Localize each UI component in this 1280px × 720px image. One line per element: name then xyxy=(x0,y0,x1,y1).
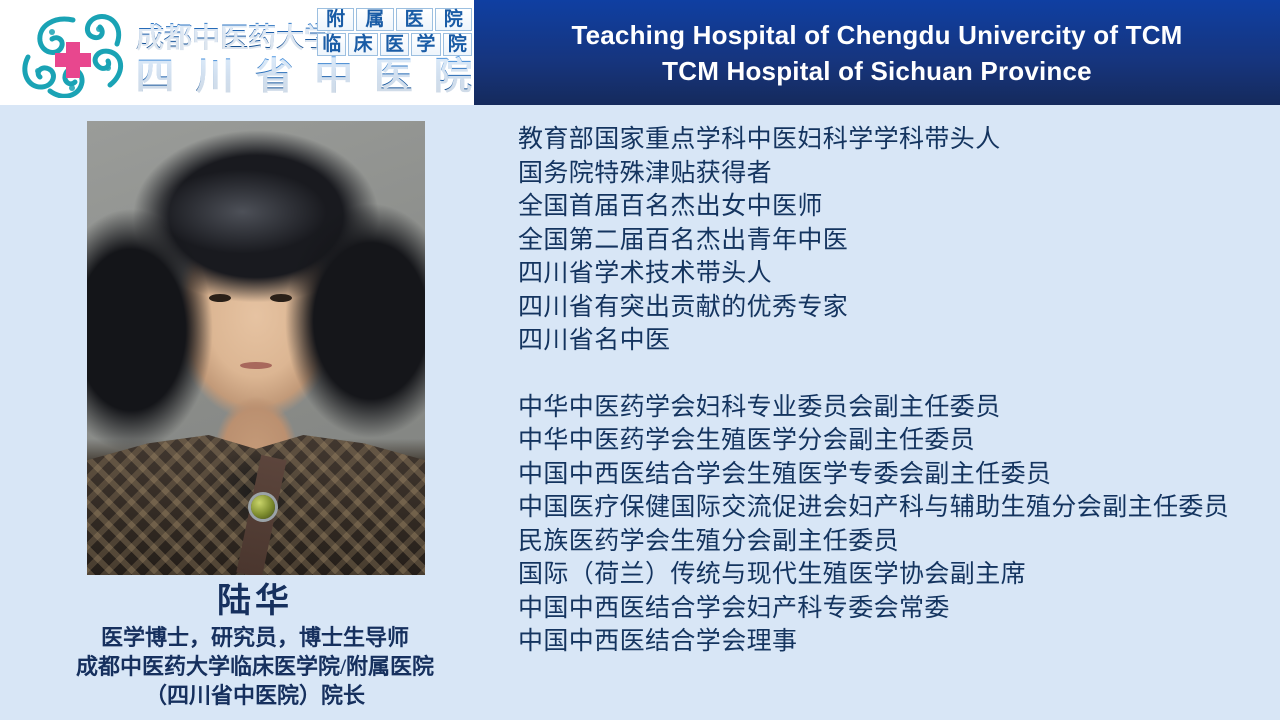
logo-hospital-char: 省 xyxy=(255,55,293,99)
credentials-group-appointments: 中华中医药学会妇科专业委员会副主任委员 中华中医药学会生殖医学分会副主任委员 中… xyxy=(518,391,1270,659)
credential-line: 中国中西医结合学会妇产科专委会常委 xyxy=(518,592,1270,626)
credential-line: 全国首届百名杰出女中医师 xyxy=(518,190,1270,224)
portrait-eye-left xyxy=(209,294,231,302)
credential-line: 四川省有突出贡献的优秀专家 xyxy=(518,291,1270,325)
hospital-logo-panel: 成都中医药大学 附 属 医 院 临 床 医 学 院 xyxy=(0,0,474,105)
logo-hospital-name: 四 川 省 中 医 院 xyxy=(136,55,472,99)
portrait-necklace-pendant xyxy=(251,495,275,519)
logo-affiliate-char: 院 xyxy=(435,8,472,31)
credential-line: 国际（荷兰）传统与现代生殖医学协会副主席 xyxy=(518,558,1270,592)
credential-line: 民族医药学会生殖分会副主任委员 xyxy=(518,525,1270,559)
slide-body: 陆华 医学博士，研究员，博士生导师 成都中医药大学临床医学院/附属医院 （四川省… xyxy=(0,105,1280,720)
logo-affiliate-char: 属 xyxy=(356,8,393,31)
credential-line: 教育部国家重点学科中医妇科学学科带头人 xyxy=(518,123,1270,157)
logo-affiliate-boxes: 附 属 医 院 临 床 医 学 院 xyxy=(317,8,472,58)
hospital-lotus-cross-logo-icon xyxy=(14,8,132,98)
banner-title-line-2: TCM Hospital of Sichuan Province xyxy=(662,54,1092,88)
logo-university-name: 成都中医药大学 xyxy=(136,16,332,56)
logo-affiliate-row-1: 附 属 医 院 xyxy=(317,8,472,31)
portrait-mouth xyxy=(240,362,272,369)
logo-affiliate-char: 学 xyxy=(411,33,440,56)
logo-hospital-char: 医 xyxy=(374,55,412,99)
credentials-spacer xyxy=(518,358,1270,391)
credential-line: 中国中西医结合学会生殖医学专委会副主任委员 xyxy=(518,458,1270,492)
credential-line: 中华中医药学会生殖医学分会副主任委员 xyxy=(518,424,1270,458)
slide-root: 成都中医药大学 附 属 医 院 临 床 医 学 院 xyxy=(0,0,1280,720)
logo-affiliate-char: 院 xyxy=(443,33,472,56)
credential-line: 全国第二届百名杰出青年中医 xyxy=(518,224,1270,258)
portrait-eye-right xyxy=(270,294,292,302)
person-title-line: （四川省中医院）院长 xyxy=(35,681,475,710)
credential-line: 中国医疗保健国际交流促进会妇产科与辅助生殖分会副主任委员 xyxy=(518,491,1270,525)
logo-affiliate-char: 附 xyxy=(317,8,354,31)
person-title-line: 成都中医药大学临床医学院/附属医院 xyxy=(35,652,475,681)
logo-hospital-char: 中 xyxy=(315,55,353,99)
credentials-group-honors: 教育部国家重点学科中医妇科学学科带头人 国务院特殊津贴获得者 全国首届百名杰出女… xyxy=(518,123,1270,358)
banner-title-line-1: Teaching Hospital of Chengdu Univercity … xyxy=(571,18,1182,52)
logo-hospital-char: 院 xyxy=(434,55,472,99)
credential-line: 国务院特殊津贴获得者 xyxy=(518,157,1270,191)
logo-affiliate-char: 医 xyxy=(380,33,409,56)
logo-hospital-char: 四 xyxy=(136,55,174,99)
slide-header: 成都中医药大学 附 属 医 院 临 床 医 学 院 xyxy=(0,0,1280,105)
logo-affiliate-char: 床 xyxy=(348,33,377,56)
credential-line: 中国中西医结合学会理事 xyxy=(518,625,1270,659)
logo-affiliate-char: 临 xyxy=(317,33,346,56)
english-title-banner: Teaching Hospital of Chengdu Univercity … xyxy=(474,0,1280,105)
portrait-photo xyxy=(87,121,425,575)
logo-wordmark: 成都中医药大学 附 属 医 院 临 床 医 学 院 xyxy=(136,5,472,101)
credential-line: 中华中医药学会妇科专业委员会副主任委员 xyxy=(518,391,1270,425)
credential-line: 四川省名中医 xyxy=(518,324,1270,358)
logo-affiliate-row-2: 临 床 医 学 院 xyxy=(317,33,472,56)
logo-affiliate-char: 医 xyxy=(396,8,433,31)
credential-line: 四川省学术技术带头人 xyxy=(518,257,1270,291)
person-title-line: 医学博士，研究员，博士生导师 xyxy=(35,623,475,652)
logo-hospital-char: 川 xyxy=(196,55,234,99)
portrait-caption: 陆华 医学博士，研究员，博士生导师 成都中医药大学临床医学院/附属医院 （四川省… xyxy=(35,581,475,710)
person-name: 陆华 xyxy=(35,581,475,623)
credentials-column: 教育部国家重点学科中医妇科学学科带头人 国务院特殊津贴获得者 全国首届百名杰出女… xyxy=(518,123,1270,659)
